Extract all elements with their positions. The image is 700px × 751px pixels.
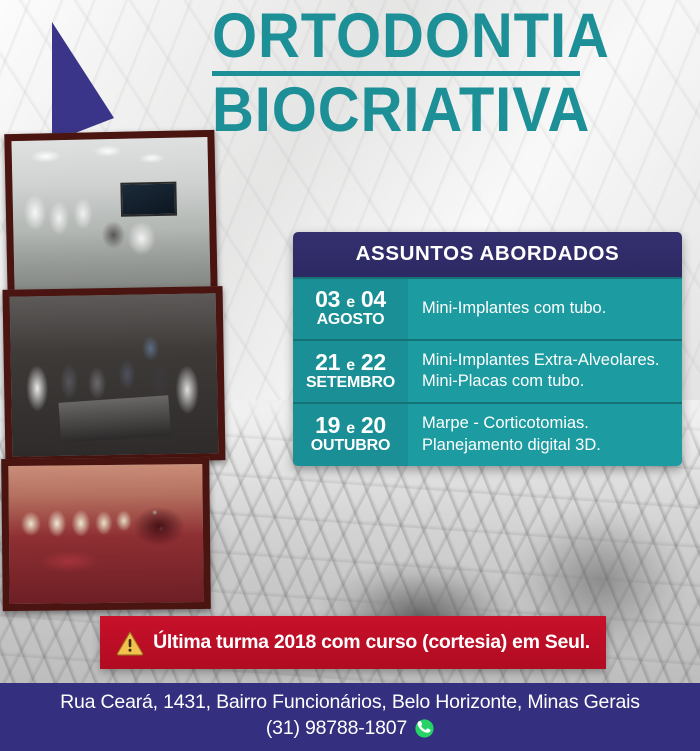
day-first: 03	[315, 286, 340, 312]
schedule-topic-line: Planejamento digital 3D.	[422, 435, 672, 456]
schedule-row: 19 e 20 OUTUBRO Marpe - Corticotomias. P…	[293, 402, 682, 465]
clinic-photo-image	[11, 137, 210, 291]
alert-banner: Última turma 2018 com curso (cortesia) e…	[100, 616, 606, 669]
alert-text: Última turma 2018 com curso (cortesia) e…	[153, 631, 590, 654]
poster-root: ORTODONTIA BIOCRIATIVA ASSUNTOS ABORDADO…	[0, 0, 700, 751]
day-separator: e	[346, 357, 355, 374]
classroom-photo-image	[10, 293, 219, 457]
clinic-photo	[4, 130, 217, 298]
day-separator: e	[346, 294, 355, 311]
schedule-row: 03 e 04 AGOSTO Mini-Implantes com tubo.	[293, 277, 682, 339]
schedule-row-date: 03 e 04 AGOSTO	[293, 279, 408, 339]
schedule-topic-line: Marpe - Corticotomias.	[422, 413, 672, 434]
schedule-row-days: 19 e 20	[297, 414, 404, 437]
schedule-topic-line: Mini-Implantes com tubo.	[422, 298, 672, 319]
poster-title: ORTODONTIA BIOCRIATIVA	[196, 8, 596, 140]
day-first: 19	[315, 412, 340, 438]
schedule-row-days: 03 e 04	[297, 288, 404, 311]
schedule-row: 21 e 22 SETEMBRO Mini-Implantes Extra-Al…	[293, 339, 682, 402]
schedule-header: ASSUNTOS ABORDADOS	[293, 232, 682, 277]
day-second: 04	[361, 286, 386, 312]
day-second: 22	[361, 349, 386, 375]
schedule-row-topics: Marpe - Corticotomias. Planejamento digi…	[408, 404, 682, 465]
schedule-topic-line: Mini-Placas com tubo.	[422, 371, 672, 392]
day-separator: e	[346, 420, 355, 437]
intraoral-photo-image	[8, 464, 203, 604]
schedule-row-month: OUTUBRO	[297, 438, 404, 455]
intraoral-photo	[1, 457, 211, 611]
schedule-row-topics: Mini-Implantes com tubo.	[408, 279, 682, 339]
day-first: 21	[315, 349, 340, 375]
classroom-photo	[2, 286, 225, 464]
title-line-2: BIOCRIATIVA	[212, 82, 580, 140]
footer-bar: Rua Ceará, 1431, Bairro Funcionários, Be…	[0, 683, 700, 751]
schedule-topic-line: Mini-Implantes Extra-Alveolares.	[422, 350, 672, 371]
schedule-row-date: 19 e 20 OUTUBRO	[293, 404, 408, 465]
whatsapp-icon[interactable]	[415, 719, 434, 738]
footer-address: Rua Ceará, 1431, Bairro Funcionários, Be…	[0, 689, 700, 715]
footer-phone: (31) 98788-1807	[266, 717, 407, 740]
schedule-row-month: AGOSTO	[297, 312, 404, 329]
footer-phone-row: (31) 98788-1807	[0, 717, 700, 740]
warning-triangle-icon	[116, 630, 144, 656]
title-line-1: ORTODONTIA	[212, 8, 580, 66]
day-second: 20	[361, 412, 386, 438]
schedule-row-days: 21 e 22	[297, 351, 404, 374]
schedule-panel: ASSUNTOS ABORDADOS 03 e 04 AGOSTO Mini-I…	[293, 232, 682, 466]
schedule-row-date: 21 e 22 SETEMBRO	[293, 341, 408, 402]
schedule-row-topics: Mini-Implantes Extra-Alveolares. Mini-Pl…	[408, 341, 682, 402]
schedule-row-month: SETEMBRO	[297, 375, 404, 392]
